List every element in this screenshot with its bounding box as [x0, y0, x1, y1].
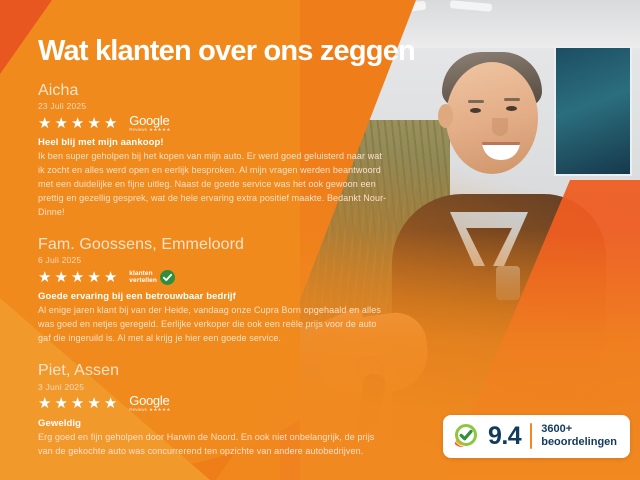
star-rating-icon: ★ ★ ★ ★ ★ [38, 396, 117, 411]
star-icon: ★ [54, 116, 67, 131]
google-wordmark: Google [129, 394, 169, 407]
review-title: Goede ervaring bij een betrouwbaar bedri… [38, 291, 430, 302]
star-icon: ★ [71, 270, 84, 285]
star-icon: ★ [87, 116, 100, 131]
review-rating-row: ★ ★ ★ ★ ★ Google Reviews ★★★★★ [38, 395, 430, 413]
score-count-label: beoordelingen [541, 436, 617, 450]
review-item: Fam. Goossens, Emmeloord 6 Juli 2025 ★ ★… [38, 236, 430, 346]
testimonials-content: Wat klanten over ons zeggen Aicha 23 Jul… [0, 0, 430, 474]
score-meta: 3600+ beoordelingen [541, 423, 617, 451]
star-icon: ★ [54, 270, 67, 285]
check-circle-icon [160, 270, 175, 285]
review-body: Al enige jaren klant bij van der Heide, … [38, 304, 388, 346]
star-icon: ★ [38, 270, 51, 285]
google-mini-stars-icon: ★★★★★ [149, 408, 171, 413]
star-icon: ★ [38, 396, 51, 411]
review-rating-row: ★ ★ ★ ★ ★ klanten vertellen [38, 268, 430, 286]
star-rating-icon: ★ ★ ★ ★ ★ [38, 116, 117, 131]
google-mini-stars-icon: ★★★★★ [149, 128, 171, 133]
star-icon: ★ [104, 396, 117, 411]
review-title: Heel blij met mijn aankoop! [38, 137, 430, 148]
review-body: Erg goed en fijn geholpen door Harwin de… [38, 431, 388, 459]
review-date: 3 Juni 2025 [38, 382, 430, 392]
overall-score-badge[interactable]: 9.4 3600+ beoordelingen [443, 415, 630, 459]
star-icon: ★ [54, 396, 67, 411]
klantenvertellen-line-1: klanten [129, 270, 157, 277]
klantenvertellen-badge[interactable]: klanten vertellen [129, 270, 175, 285]
klantenvertellen-line-2: vertellen [129, 277, 157, 284]
google-reviews-badge[interactable]: Google Reviews ★★★★★ [129, 394, 170, 413]
star-icon: ★ [87, 270, 100, 285]
review-title: Geweldig [38, 418, 430, 429]
google-reviews-subtitle: Reviews ★★★★★ [129, 128, 170, 133]
review-item: Aicha 23 Juli 2025 ★ ★ ★ ★ ★ Google Revi… [38, 82, 430, 220]
review-author: Piet, Assen [38, 362, 430, 380]
star-icon: ★ [71, 116, 84, 131]
review-rating-row: ★ ★ ★ ★ ★ Google Reviews ★★★★★ [38, 114, 430, 132]
score-value: 9.4 [488, 424, 521, 449]
review-item: Piet, Assen 3 Juni 2025 ★ ★ ★ ★ ★ Google… [38, 362, 430, 458]
star-icon: ★ [104, 270, 117, 285]
page-title: Wat klanten over ons zeggen [38, 36, 430, 68]
review-body: Ik ben super geholpen bij het kopen van … [38, 150, 388, 220]
google-reviews-label: Reviews [129, 408, 147, 413]
review-author: Fam. Goossens, Emmeloord [38, 236, 430, 254]
star-icon: ★ [38, 116, 51, 131]
google-reviews-label: Reviews [129, 128, 147, 133]
star-icon: ★ [104, 116, 117, 131]
star-icon: ★ [71, 396, 84, 411]
google-wordmark: Google [129, 114, 169, 127]
star-icon: ★ [87, 396, 100, 411]
google-reviews-badge[interactable]: Google Reviews ★★★★★ [129, 114, 170, 133]
review-author: Aicha [38, 82, 430, 100]
score-divider [530, 423, 532, 449]
klantenvertellen-wordmark: klanten vertellen [129, 270, 157, 285]
klantenvertellen-logo-icon [453, 423, 479, 449]
review-date: 6 Juli 2025 [38, 255, 430, 265]
review-date: 23 Juli 2025 [38, 101, 430, 111]
star-rating-icon: ★ ★ ★ ★ ★ [38, 270, 117, 285]
google-reviews-subtitle: Reviews ★★★★★ [129, 408, 170, 413]
testimonials-banner: VDH Wat klanten over ons zeggen Aicha 23… [0, 0, 640, 480]
score-count: 3600+ [541, 423, 617, 437]
